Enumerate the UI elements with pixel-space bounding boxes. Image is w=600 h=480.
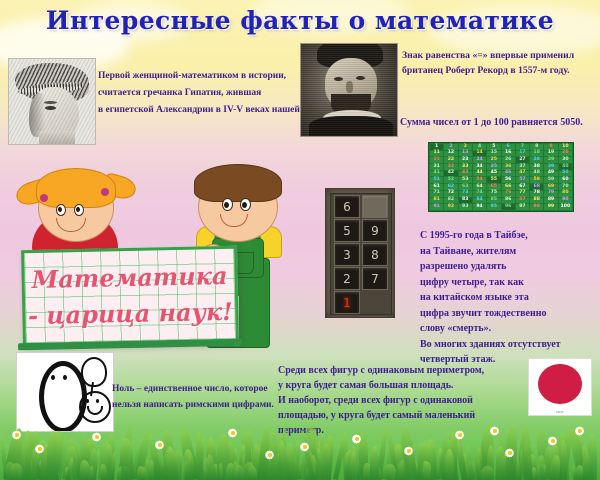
- hundreds-chart-cell: 57: [516, 177, 529, 183]
- grass-blade: [452, 458, 460, 480]
- daisy-petal: [93, 432, 101, 442]
- grass-blade: [361, 441, 372, 480]
- daisy-petal: [491, 426, 499, 436]
- grass-blade: [45, 439, 57, 480]
- daisy-petal: [92, 435, 101, 439]
- hundreds-chart-cell: 87: [516, 198, 529, 204]
- grass-blade: [552, 432, 566, 480]
- hundreds-chart-cell: 24: [473, 157, 486, 163]
- grass-blade: [550, 455, 562, 480]
- hundreds-chart-cell: 21: [430, 157, 443, 163]
- grass-blade: [207, 463, 222, 480]
- hundreds-chart-cell: 89: [544, 198, 557, 204]
- hundreds-chart-cell: 85: [487, 198, 500, 204]
- grass-blade: [244, 430, 251, 480]
- daisy-petal: [548, 437, 558, 445]
- hundreds-chart-cell: 97: [516, 204, 529, 210]
- grass-blade: [538, 454, 547, 480]
- daisy-center: [231, 431, 235, 435]
- daisy-petal: [92, 433, 102, 441]
- grass-blade: [47, 431, 59, 480]
- grass-blade: [37, 459, 48, 480]
- daisy-petal: [404, 449, 413, 453]
- grass-blade: [443, 439, 458, 480]
- grass-blade: [263, 441, 277, 480]
- grass-blade: [289, 453, 302, 480]
- daisy-petal: [303, 443, 307, 452]
- hundreds-chart-cell: 14: [473, 151, 486, 157]
- grass-blade: [455, 438, 467, 480]
- daisy-flower-icon: [404, 446, 414, 456]
- hundreds-chart-cell: 46: [502, 171, 515, 177]
- daisy-petal: [506, 448, 514, 458]
- grass-blade: [78, 443, 92, 480]
- elevator-button-6[interactable]: 6: [334, 195, 360, 218]
- hundreds-chart-cell: 42: [444, 171, 457, 177]
- grass-blade: [277, 441, 284, 480]
- grass-blade: [98, 440, 111, 480]
- grass-blade: [240, 452, 247, 480]
- daisy-petal: [265, 453, 274, 457]
- hundreds-chart-cell: 79: [544, 191, 557, 197]
- grass-blade: [247, 465, 257, 480]
- grass-blade: [241, 453, 249, 480]
- grass-blade: [9, 439, 19, 480]
- grass-blade: [141, 467, 148, 480]
- elevator-button-blank[interactable]: [362, 195, 388, 218]
- grass-blade: [580, 445, 595, 480]
- grass-blade: [191, 437, 207, 480]
- daisy-petal: [576, 426, 584, 436]
- grass-blade: [504, 425, 518, 480]
- fact-circle-line-1: Среди всех фигур с одинаковым периметром…: [278, 363, 484, 378]
- grass-blade: [8, 436, 23, 480]
- grass-blade: [319, 432, 330, 480]
- grass-blade: [549, 456, 558, 480]
- daisy-petal: [35, 447, 44, 451]
- hundreds-chart-cell: 72: [444, 191, 457, 197]
- daisy-petal: [301, 442, 309, 452]
- grass-blade: [36, 440, 53, 480]
- daisy-petal: [407, 447, 411, 456]
- daisy-petal: [228, 431, 237, 435]
- hundreds-chart-cell: 23: [459, 157, 472, 163]
- grass-blade: [289, 440, 301, 480]
- grass-blade: [272, 453, 287, 480]
- grass-blade: [237, 444, 245, 480]
- daisy-petal: [491, 426, 499, 436]
- daisy-petal: [155, 441, 165, 449]
- hundreds-chart-cell: 2: [444, 144, 457, 150]
- hundreds-chart-cell: 95: [487, 204, 500, 210]
- grass-blade: [518, 444, 534, 480]
- hundreds-chart-cell: 27: [516, 157, 529, 163]
- daisy-petal: [548, 437, 558, 445]
- grass-blade: [299, 449, 314, 480]
- grass-blade: [285, 447, 300, 480]
- grass-blade: [510, 454, 519, 480]
- grass-blade: [392, 444, 405, 480]
- math-queen-of-sciences-board: Математика - царица наук!: [21, 246, 239, 347]
- grass-blade: [25, 447, 41, 480]
- daisy-petal: [92, 433, 102, 441]
- grass-blade: [463, 462, 471, 480]
- hundreds-chart-cell: 11: [430, 151, 443, 157]
- fact-hypatia-line-1: Первой женщиной-математиком в истории,: [98, 68, 321, 85]
- daisy-flower-icon: [35, 444, 45, 454]
- grass-blade: [466, 461, 474, 480]
- daisy-flower-icon: [155, 440, 165, 450]
- grass-blade: [206, 453, 218, 480]
- daisy-petal: [548, 439, 557, 443]
- grass-blade: [75, 437, 88, 480]
- hundreds-chart-cell: 48: [530, 171, 543, 177]
- hundreds-chart-cell: 44: [473, 171, 486, 177]
- grass-blade: [301, 445, 311, 480]
- daisy-petal: [300, 443, 310, 451]
- daisy-petal: [405, 446, 413, 456]
- grass-blade: [3, 427, 25, 480]
- grass-blade: [240, 458, 250, 480]
- grass-blade: [556, 461, 567, 480]
- grass-blade: [521, 439, 539, 480]
- hundreds-chart-cell: 25: [487, 157, 500, 163]
- grass-blade: [270, 433, 284, 480]
- grass-shadow-gradient: [0, 446, 600, 480]
- grass-blade: [553, 438, 560, 480]
- fact-circle-line-4: площадью, у круга будет самый маленький: [278, 408, 484, 423]
- hundreds-chart-cell: 53: [459, 177, 472, 183]
- grass-blade: [49, 432, 63, 480]
- daisy-petal: [12, 431, 22, 439]
- daisy-petal: [549, 436, 557, 446]
- hundreds-chart-cell: 91: [430, 204, 443, 210]
- grass-blade: [104, 439, 115, 480]
- zero-left-eye: [51, 375, 55, 380]
- grass-blade: [145, 459, 153, 480]
- grass-blade: [0, 435, 8, 480]
- grass-blade: [155, 462, 169, 480]
- hundreds-chart-image: 1234567891011121314151617181920212223242…: [428, 142, 574, 212]
- grass-blade: [305, 465, 317, 480]
- grass-blade: [178, 426, 199, 480]
- grass-blade: [120, 438, 132, 480]
- fact-hypatia-line-2: считается гречанка Гипатия, жившая: [98, 85, 321, 102]
- grass-blade: [581, 455, 591, 480]
- grass-blade: [424, 442, 439, 480]
- daisy-center: [15, 433, 19, 437]
- grass-blade: [229, 447, 239, 480]
- grass-blade: [417, 442, 426, 480]
- daisy-petal: [156, 440, 164, 450]
- grass-blade: [503, 428, 520, 480]
- grass-blade: [344, 450, 354, 480]
- daisy-center: [407, 449, 411, 453]
- grass-blade: [396, 460, 408, 480]
- grass-blade: [226, 463, 235, 480]
- poster-canvas: Интересные факты о математике Первой жен…: [0, 0, 600, 480]
- grass-blade: [208, 437, 219, 480]
- hundreds-chart-cell: 78: [530, 191, 543, 197]
- smiley-right-eye: [96, 399, 99, 403]
- grass-blade: [543, 445, 560, 480]
- hundreds-chart-cell: 77: [516, 191, 529, 197]
- grass-blade: [430, 446, 441, 480]
- grass-blade: [239, 430, 258, 480]
- hundreds-chart-cell: 6: [502, 144, 515, 150]
- elevator-button-3[interactable]: 3: [334, 243, 360, 266]
- grass-blade: [342, 431, 349, 480]
- grass-blade: [353, 460, 367, 480]
- hundreds-chart-cell: 8: [530, 144, 543, 150]
- grass-blade: [423, 439, 435, 480]
- daisy-petal: [505, 449, 515, 457]
- grass-blade: [64, 467, 71, 480]
- grass-blade: [238, 442, 255, 480]
- daisy-center: [508, 451, 512, 455]
- grass-blade: [132, 438, 149, 480]
- grass-blade: [321, 435, 336, 480]
- grass-blade: [92, 450, 102, 480]
- grass-blade: [62, 445, 79, 480]
- daisy-petal: [576, 426, 584, 436]
- grass-blade: [84, 462, 89, 480]
- fact-taiwan-line-5: на китайском языке эта: [420, 290, 561, 306]
- hundreds-chart-cell: 3: [459, 144, 472, 150]
- hundreds-chart-cell: 1: [430, 144, 443, 150]
- hundreds-chart-cell: 7: [516, 144, 529, 150]
- hundreds-chart-cell: 12: [444, 151, 457, 157]
- daisy-petal: [12, 433, 21, 437]
- hundreds-chart-cell: 92: [444, 204, 457, 210]
- hypatia-portrait-image: [8, 58, 96, 145]
- grass-blade: [198, 466, 208, 480]
- photo-grain: [301, 44, 397, 136]
- grass-blade: [9, 462, 23, 480]
- grass-blade: [574, 465, 584, 480]
- grass-blade: [504, 427, 519, 480]
- grass-blade: [66, 437, 81, 480]
- daisy-petal: [266, 450, 274, 460]
- circle-illustration-card: круг: [528, 358, 592, 416]
- grass-blade: [394, 463, 406, 480]
- grass-blade: [355, 439, 366, 480]
- grass-blade: [266, 429, 279, 480]
- daisy-petal: [265, 451, 275, 459]
- grass-blade: [382, 463, 397, 480]
- hundreds-chart-cell: 90: [559, 198, 572, 204]
- grass-blade: [404, 448, 417, 480]
- daisy-petal: [36, 444, 44, 454]
- fact-taiwan-line-7: слову «смерть».: [420, 321, 561, 337]
- circle-caption: круг: [529, 410, 591, 414]
- daisy-petal: [36, 444, 44, 454]
- hundreds-chart-cell: 76: [502, 191, 515, 197]
- hundreds-chart-cell: 54: [473, 177, 486, 183]
- hundreds-chart-cell: 80: [559, 191, 572, 197]
- grass-blade: [148, 460, 153, 480]
- grass-blade: [39, 443, 52, 480]
- hundreds-chart-cell: 32: [444, 164, 457, 170]
- grass-blade: [445, 449, 454, 480]
- fact-taiwan-line-2: на Тайване, жителям: [420, 244, 561, 260]
- elevator-button-5[interactable]: 5: [334, 219, 360, 242]
- grass-blade: [202, 458, 212, 480]
- elevator-button-9[interactable]: 9: [362, 219, 388, 242]
- hundreds-chart-cell: 71: [430, 191, 443, 197]
- girl-left-hairband: [40, 194, 48, 202]
- hundreds-chart-cell: 33: [459, 164, 472, 170]
- poster-title: Интересные факты о математике: [0, 6, 600, 35]
- grass-blade: [232, 461, 239, 480]
- grass-blade: [311, 441, 327, 480]
- grass-blade: [413, 460, 418, 480]
- hundreds-chart-cell: 47: [516, 171, 529, 177]
- daisy-petal: [268, 451, 272, 460]
- grass-blade: [66, 457, 74, 480]
- grass-blade: [49, 467, 60, 480]
- hundreds-chart-cell: 96: [502, 204, 515, 210]
- fact-zero-line-1: Ноль – единственное число, которое: [112, 381, 274, 397]
- grass-blade: [166, 447, 179, 480]
- elevator-button-1[interactable]: 1: [334, 291, 360, 314]
- daisy-center: [303, 445, 307, 449]
- hundreds-chart-cell: 30: [559, 157, 572, 163]
- daisy-petal: [493, 427, 497, 436]
- grass-blade: [451, 432, 458, 480]
- daisy-petal: [38, 445, 42, 454]
- elevator-button-7[interactable]: 7: [362, 267, 388, 290]
- grass-blade: [70, 441, 86, 480]
- daisy-petal: [508, 449, 512, 458]
- hundreds-chart-cell: 75: [487, 191, 500, 197]
- girl-left-pupil: [58, 207, 62, 212]
- daisy-petal: [551, 437, 555, 446]
- grass-blade: [500, 455, 509, 480]
- grass-blade: [464, 446, 473, 480]
- grass-blade: [18, 431, 34, 480]
- grass-blade: [79, 460, 91, 480]
- hundreds-chart-cell: 38: [530, 164, 543, 170]
- grass-blade: [402, 443, 408, 480]
- daisy-petal: [300, 443, 310, 451]
- grass-blade: [444, 468, 455, 480]
- hundreds-chart-cell: 41: [430, 171, 443, 177]
- hundreds-chart-cell: 18: [530, 151, 543, 157]
- grass-blade: [349, 451, 357, 480]
- daisy-center: [38, 447, 42, 451]
- grass-blade: [549, 466, 561, 480]
- daisy-petal: [506, 448, 514, 458]
- grass-blade: [21, 455, 31, 480]
- daisy-petal: [158, 441, 162, 450]
- elevator-button-8[interactable]: 8: [362, 243, 388, 266]
- grass-blade: [516, 428, 527, 480]
- daisy-petal: [12, 431, 22, 439]
- grass-blade: [416, 441, 427, 480]
- daisy-petal: [578, 427, 582, 436]
- grass-blade: [587, 433, 597, 480]
- daisy-flower-icon: [575, 426, 585, 436]
- hundreds-chart-cell: 4: [473, 144, 486, 150]
- hundreds-chart-cell: 13: [459, 151, 472, 157]
- hundreds-chart-cell: 74: [473, 191, 486, 197]
- grass-blade: [116, 424, 134, 480]
- hundreds-chart-cell: 88: [530, 198, 543, 204]
- zero-right-eye: [63, 375, 67, 380]
- hundreds-chart-cell: 26: [502, 157, 515, 163]
- grass-blade: [342, 450, 359, 480]
- daisy-petal: [300, 445, 309, 449]
- hundreds-chart-cell: 37: [516, 164, 529, 170]
- grass-blade: [316, 447, 328, 480]
- daisy-petal: [155, 443, 164, 447]
- girl-right-pupil: [76, 207, 80, 212]
- grass-blade: [87, 448, 99, 480]
- hundreds-chart-cell: 83: [459, 198, 472, 204]
- hundreds-chart-cell: 16: [502, 151, 515, 157]
- daisy-petal: [265, 451, 275, 459]
- robert-recorde-portrait-image: [300, 43, 398, 137]
- red-circle-shape: [538, 364, 582, 404]
- grass-blade: [537, 455, 545, 480]
- hundreds-chart-cell: 40: [559, 164, 572, 170]
- grass-blade: [90, 466, 95, 480]
- grass-blade: [571, 466, 578, 480]
- elevator-button-2[interactable]: 2: [334, 267, 360, 290]
- grass-blade: [362, 463, 372, 480]
- grass-blade: [249, 462, 256, 480]
- hundreds-chart-cell: 43: [459, 171, 472, 177]
- grass-blade: [108, 433, 115, 480]
- daisy-petal: [95, 433, 99, 442]
- grass-blade: [399, 462, 405, 480]
- hundreds-chart-cell: 34: [473, 164, 486, 170]
- daisy-petal: [505, 449, 515, 457]
- grass-blade: [278, 439, 292, 480]
- daisy-center: [95, 435, 99, 439]
- grass-blade: [474, 447, 483, 480]
- grass-blade: [358, 431, 368, 480]
- hundreds-chart-cell: 52: [444, 177, 457, 183]
- boy-hair: [194, 164, 282, 202]
- grass-blade: [549, 467, 560, 480]
- grass-blade: [534, 463, 548, 480]
- hundreds-chart-cell: 82: [444, 198, 457, 204]
- grass-blade: [161, 446, 175, 480]
- daisy-petal: [490, 427, 500, 435]
- grass-blade: [462, 453, 469, 480]
- grass-blade: [481, 466, 495, 480]
- hundreds-chart-cell: 51: [430, 177, 443, 183]
- hundreds-chart-cell: 29: [544, 157, 557, 163]
- elevator-panel-image: 65321987: [325, 188, 395, 318]
- grass-blade: [496, 446, 505, 480]
- grass-blade: [505, 445, 522, 480]
- grass-blade: [147, 448, 164, 480]
- hundreds-chart-cell: 86: [502, 198, 515, 204]
- daisy-petal: [266, 450, 274, 460]
- grass-blade: [282, 466, 288, 480]
- hundreds-chart-cell: 81: [430, 198, 443, 204]
- fact-hypatia-line-3: в египетской Александрии в IV-V веках на…: [98, 102, 321, 119]
- grass-blade: [521, 424, 534, 480]
- hundreds-chart-cell: 9: [544, 144, 557, 150]
- daisy-flower-icon: [228, 428, 238, 438]
- grass-blade: [263, 450, 279, 480]
- grass-blade: [437, 448, 452, 480]
- daisy-flower-icon: [92, 432, 102, 442]
